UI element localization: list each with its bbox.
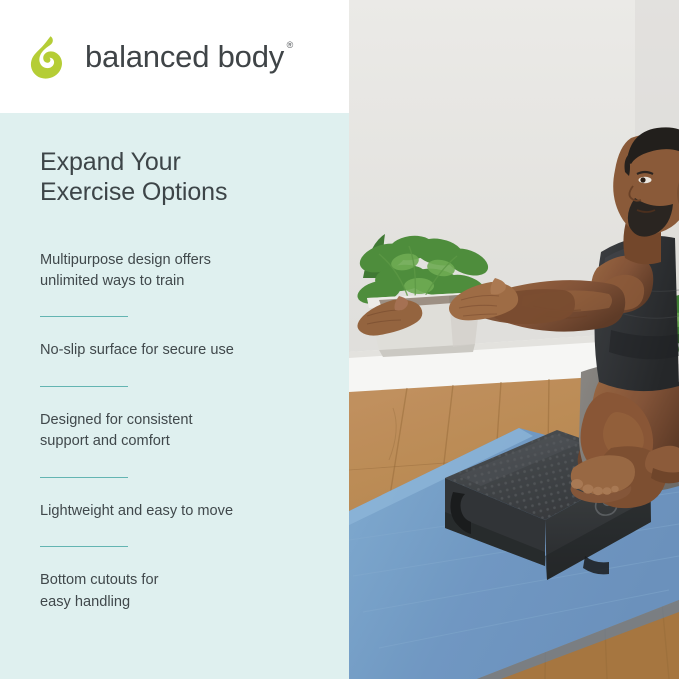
feature-text: Lightweight and easy to move xyxy=(40,501,319,522)
list-item: Bottom cutouts for easy handling xyxy=(40,570,319,613)
product-lifestyle-photo xyxy=(349,0,679,679)
brand-wordmark: balanced body ® xyxy=(85,39,284,75)
feature-divider xyxy=(40,477,128,478)
brand-header: balanced body ® xyxy=(0,0,349,113)
photo-illustration xyxy=(349,0,679,679)
feature-divider xyxy=(40,316,128,317)
feature-divider xyxy=(40,386,128,387)
feature-panel: Expand Your Exercise Options Multipurpos… xyxy=(0,113,349,679)
left-column: balanced body ® Expand Your Exercise Opt… xyxy=(0,0,349,679)
brand-name-text: balanced body xyxy=(85,39,284,74)
product-feature-banner: balanced body ® Expand Your Exercise Opt… xyxy=(0,0,679,679)
list-item: Multipurpose design offers unlimited way… xyxy=(40,250,319,293)
feature-text: No-slip surface for secure use xyxy=(40,340,319,361)
brand-logo: balanced body ® xyxy=(30,35,284,79)
registered-trademark-symbol: ® xyxy=(287,40,293,50)
list-item: Designed for consistent support and comf… xyxy=(40,410,319,453)
feature-text: Designed for consistent support and comf… xyxy=(40,410,319,453)
list-item: No-slip surface for secure use xyxy=(40,340,319,361)
panel-heading: Expand Your Exercise Options xyxy=(40,147,319,208)
list-item: Lightweight and easy to move xyxy=(40,501,319,522)
balanced-body-mark-icon xyxy=(30,35,72,79)
feature-list: Multipurpose design offers unlimited way… xyxy=(40,250,319,614)
feature-divider xyxy=(40,546,128,547)
feature-text: Bottom cutouts for easy handling xyxy=(40,570,319,613)
feature-text: Multipurpose design offers unlimited way… xyxy=(40,250,319,293)
